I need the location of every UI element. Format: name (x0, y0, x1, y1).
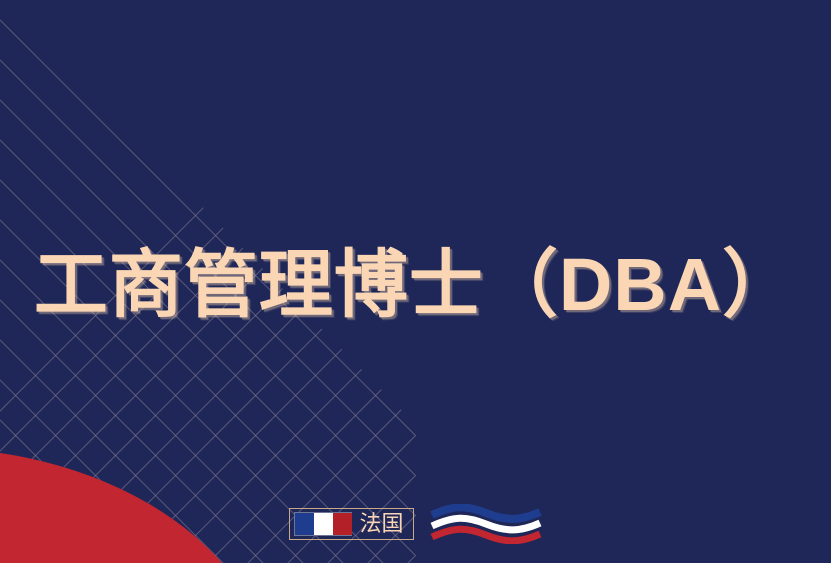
flag-stripe-white (314, 513, 333, 535)
flag-stripe-blue (295, 513, 314, 535)
tricolor-wave-ribbon (430, 504, 542, 544)
page-title: 工商管理博士（DBA） (34, 248, 797, 322)
title-block: 工商管理博士（DBA） (0, 248, 831, 322)
country-label: 法国 (352, 513, 408, 535)
france-flag-badge: 法国 (289, 508, 413, 540)
slide-canvas: 工商管理博士（DBA） 法国 (0, 0, 831, 563)
emblem-row: 法国 (0, 504, 831, 544)
flag-stripe-red (333, 513, 352, 535)
france-flag-icon (294, 512, 352, 536)
